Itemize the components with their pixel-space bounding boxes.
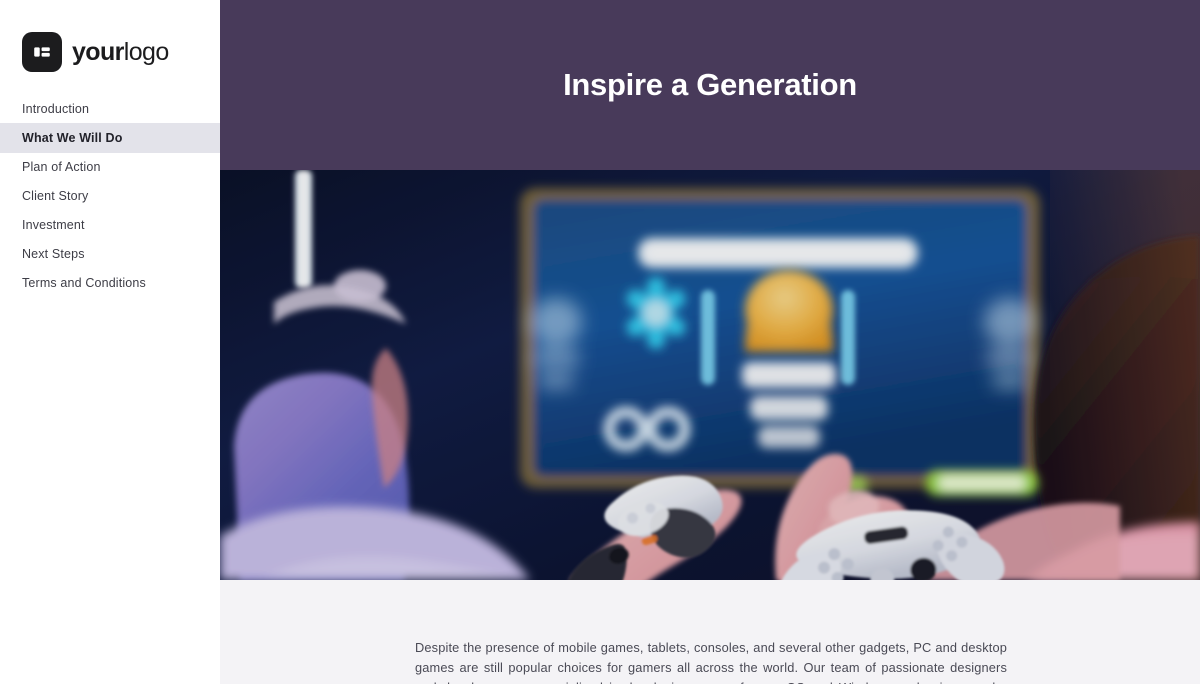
sidebar-item-plan-of-action[interactable]: Plan of Action bbox=[0, 152, 220, 182]
sidebar-nav-list: Introduction What We Will Do Plan of Act… bbox=[0, 94, 220, 298]
sidebar-item-next-steps[interactable]: Next Steps bbox=[0, 239, 220, 269]
sidebar-item-introduction[interactable]: Introduction bbox=[0, 94, 220, 124]
hero-header: Inspire a Generation bbox=[220, 0, 1200, 170]
layout-dashboard-icon bbox=[22, 32, 62, 72]
logo[interactable]: yourlogo bbox=[0, 0, 220, 82]
sidebar-item-terms-and-conditions[interactable]: Terms and Conditions bbox=[0, 268, 220, 298]
logo-text-light: logo bbox=[124, 38, 169, 66]
sidebar-item-investment[interactable]: Investment bbox=[0, 210, 220, 240]
logo-text-bold: your bbox=[72, 38, 124, 66]
sidebar-item-what-we-will-do[interactable]: What We Will Do bbox=[0, 123, 220, 153]
page-title: Inspire a Generation bbox=[563, 68, 857, 102]
main-content: Inspire a Generation bbox=[220, 0, 1200, 684]
presentation-page: yourlogo Introduction What We Will Do Pl… bbox=[0, 0, 1200, 684]
sidebar-item-client-story[interactable]: Client Story bbox=[0, 181, 220, 211]
logo-wordmark: yourlogo bbox=[72, 40, 169, 65]
sidebar-nav: Introduction What We Will Do Plan of Act… bbox=[0, 94, 220, 298]
hero-image bbox=[220, 170, 1200, 580]
body-paragraph: Despite the presence of mobile games, ta… bbox=[415, 638, 1007, 684]
sidebar: yourlogo Introduction What We Will Do Pl… bbox=[0, 0, 220, 684]
body-section: Despite the presence of mobile games, ta… bbox=[220, 580, 1200, 684]
